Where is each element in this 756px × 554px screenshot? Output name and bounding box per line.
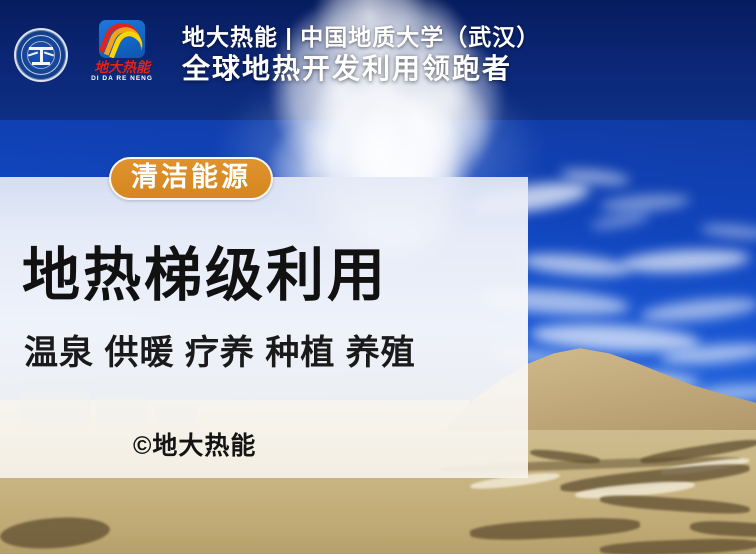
logo-wordmark-cn: 地大热能 xyxy=(94,60,150,74)
poster-header: 地大热能 DI DA RE NENG 地大热能 | 中国地质大学（武汉） 全球地… xyxy=(0,0,756,110)
geothermal-poster: 地大热能 DI DA RE NENG 地大热能 | 中国地质大学（武汉） 全球地… xyxy=(0,0,756,554)
header-line-2: 全球地热开发利用领跑者 xyxy=(182,54,540,85)
copyright-notice: ©地大热能 xyxy=(133,434,256,459)
page-subtitle: 温泉 供暖 疗养 种植 养殖 xyxy=(24,336,416,370)
seal-glyph xyxy=(28,44,54,66)
header-line-1: 地大热能 | 中国地质大学（武汉） xyxy=(182,25,540,50)
clean-energy-badge: 清洁能源 xyxy=(109,157,273,200)
content-panel xyxy=(0,177,528,478)
logo-tile xyxy=(99,20,145,58)
logo-wordmark-pinyin: DI DA RE NENG xyxy=(91,76,153,83)
university-seal-icon xyxy=(14,28,68,82)
page-title: 地热梯级利用 xyxy=(22,247,388,305)
didareneng-logo-icon: 地大热能 DI DA RE NENG xyxy=(80,20,164,90)
header-text-block: 地大热能 | 中国地质大学（武汉） 全球地热开发利用领跑者 xyxy=(182,25,540,85)
